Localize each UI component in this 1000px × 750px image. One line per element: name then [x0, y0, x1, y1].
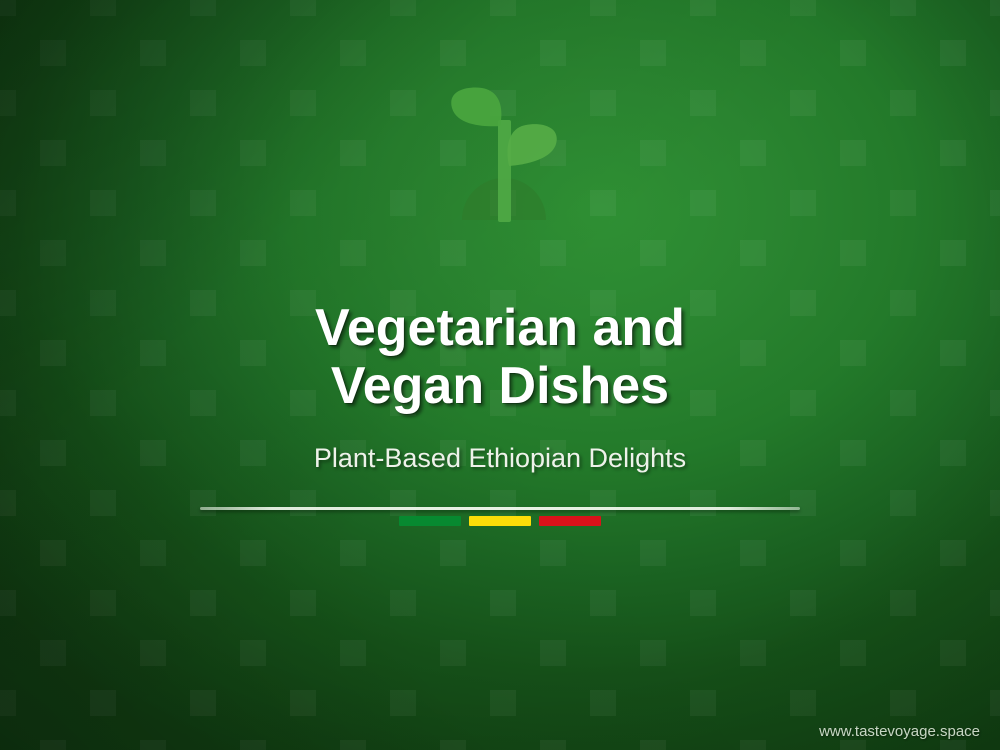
- flag-accent-bars: [399, 516, 603, 526]
- accent-bar-green: [399, 516, 461, 526]
- slide-content: Vegetarian and Vegan Dishes Plant-Based …: [0, 0, 1000, 750]
- accent-bar-yellow: [469, 516, 531, 526]
- slide-title: Vegetarian and Vegan Dishes: [0, 299, 1000, 415]
- presentation-slide: Vegetarian and Vegan Dishes Plant-Based …: [0, 0, 1000, 750]
- slide-subtitle: Plant-Based Ethiopian Delights: [0, 443, 1000, 474]
- accent-bar-red: [539, 516, 601, 526]
- title-divider-line: [200, 507, 800, 510]
- footer-website-url: www.tastevoyage.space: [819, 723, 980, 740]
